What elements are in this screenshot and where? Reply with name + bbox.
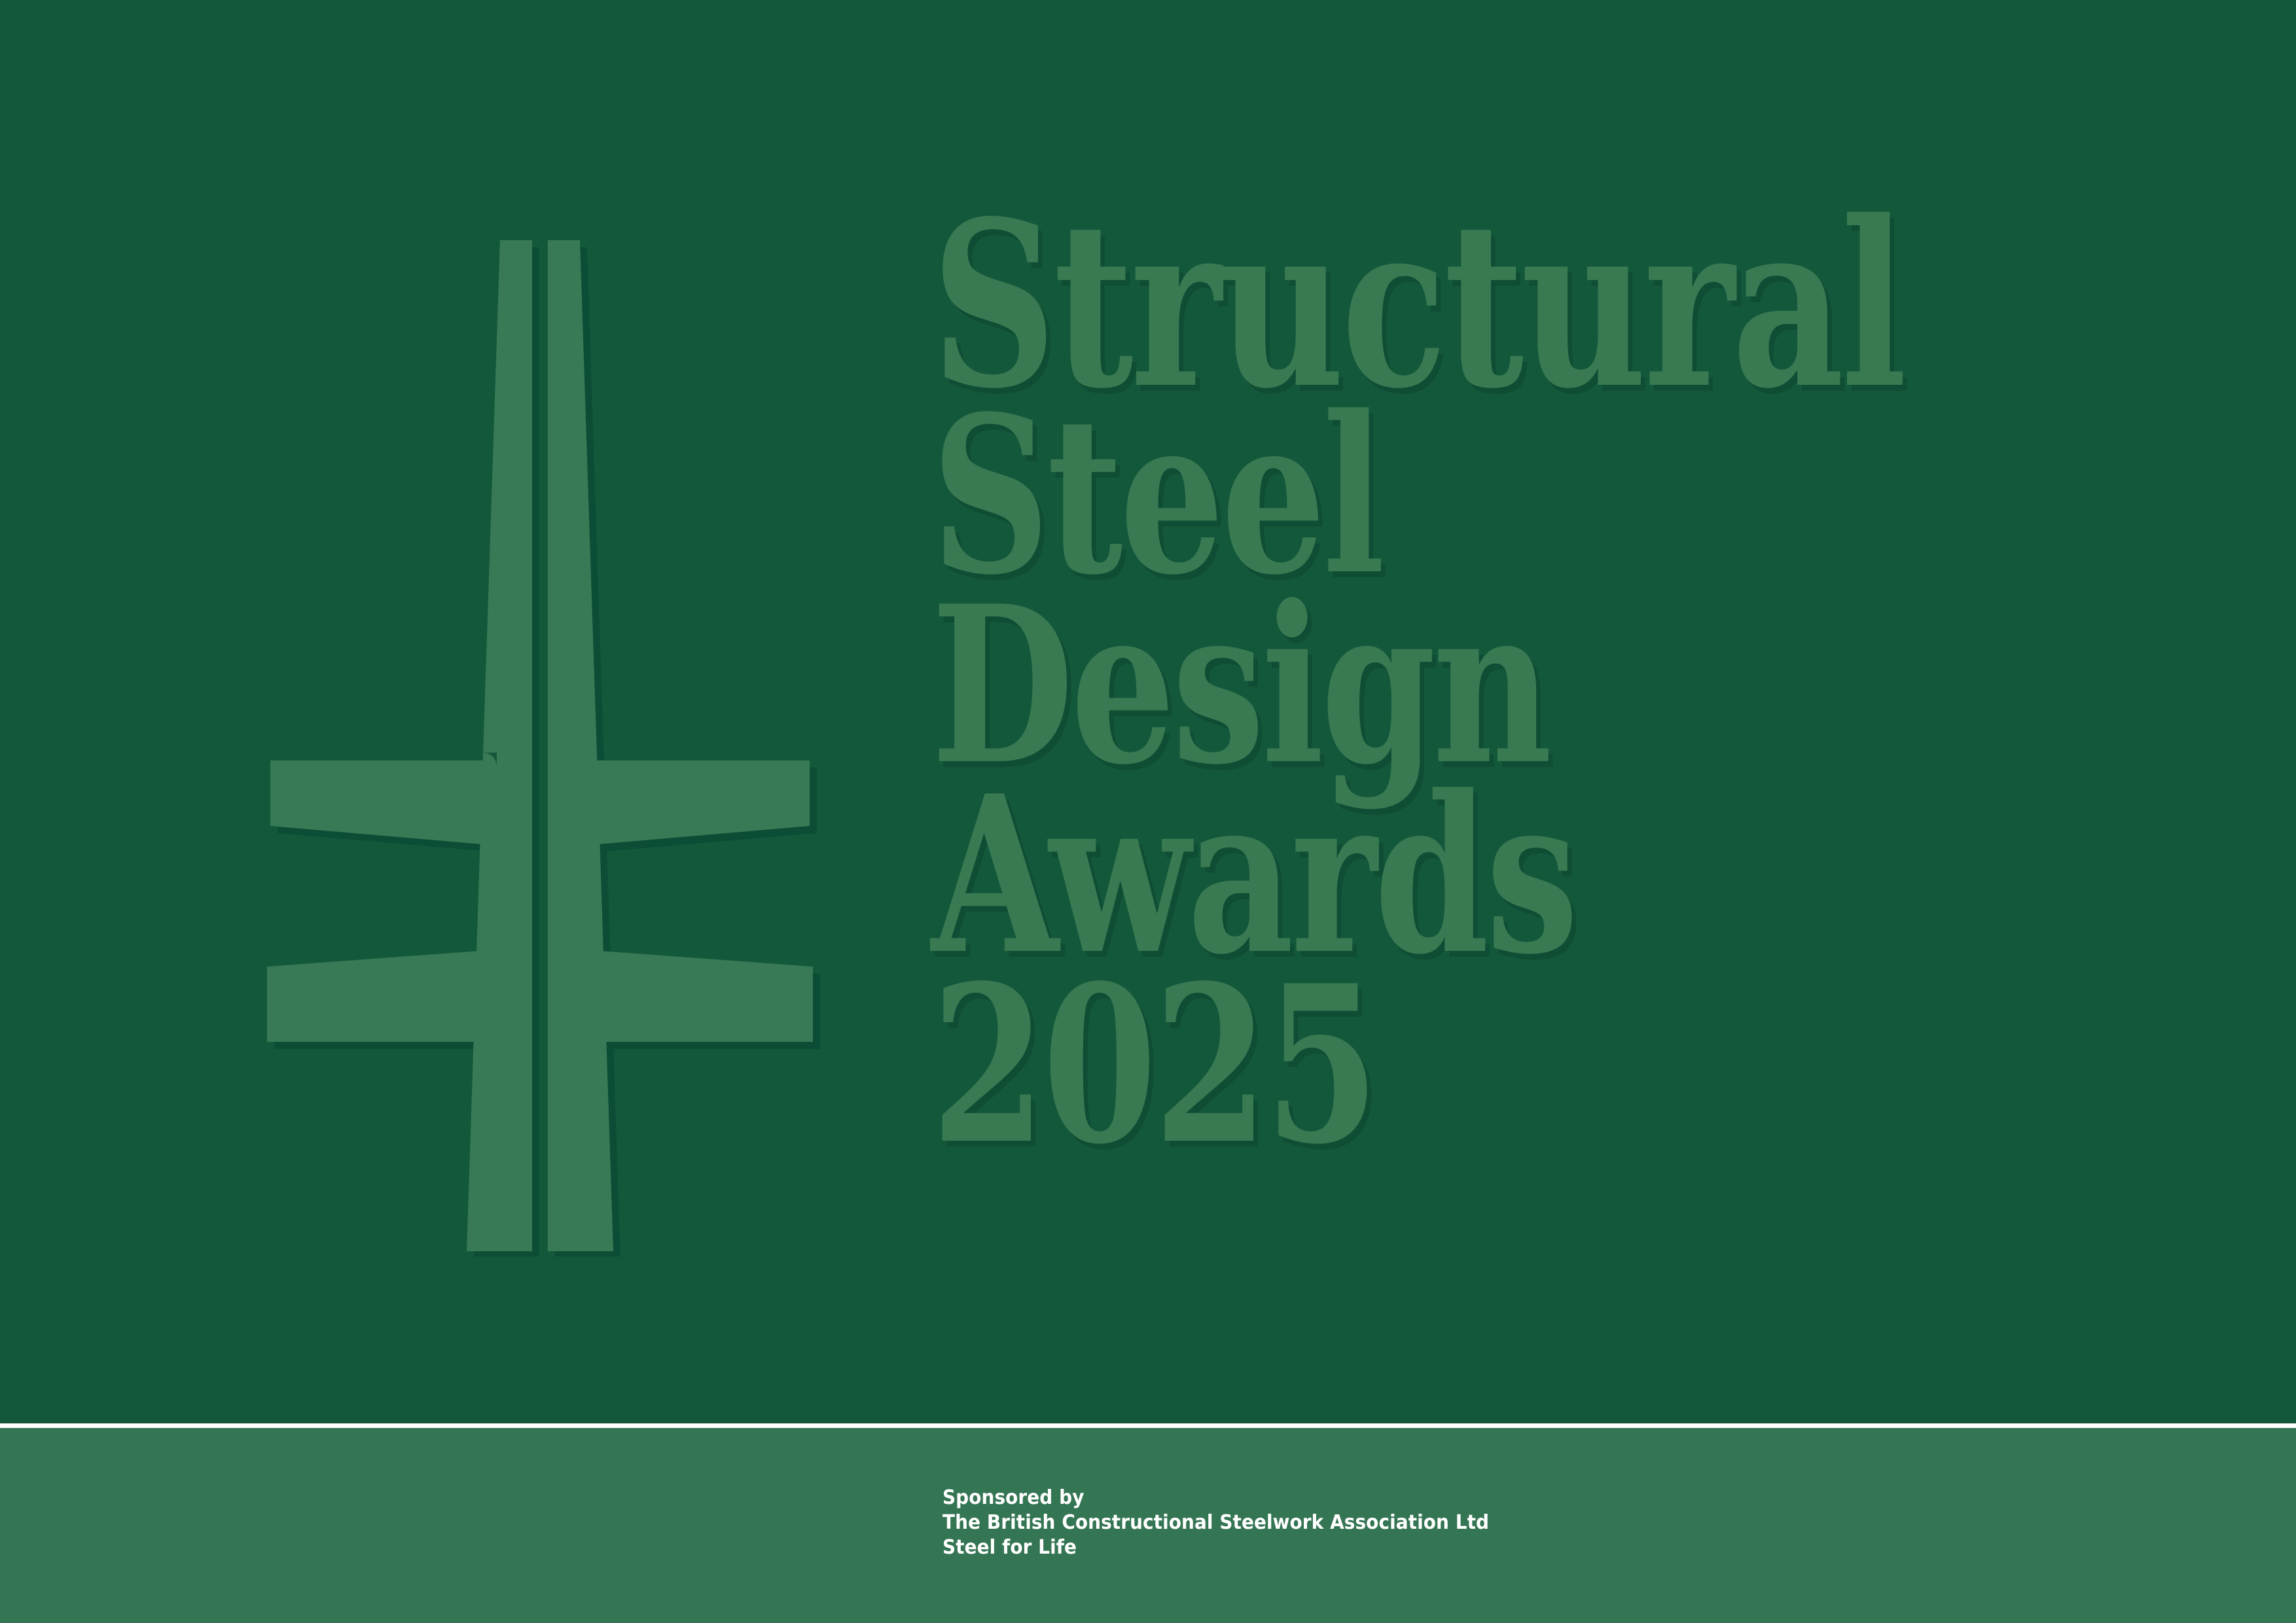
sponsor-credit-block: Sponsored by The British Constructional … — [942, 1486, 1990, 1560]
sponsor-name-steel-for-life: Steel for Life — [942, 1535, 1916, 1560]
cover-page: Structural Steel Design Awards 2025 Spon… — [0, 0, 2296, 1623]
sponsored-by-label: Sponsored by — [942, 1486, 1916, 1510]
sponsor-name-bcsa: The British Constructional Steelwork Ass… — [942, 1510, 1916, 1535]
title-line-year: 2025 — [931, 970, 1837, 1160]
page-title: Structural Steel Design Awards 2025 — [931, 211, 2123, 1160]
divider — [0, 1423, 2296, 1428]
steel-i-beam-logo-icon — [259, 236, 821, 1257]
hero-section: Structural Steel Design Awards 2025 — [0, 0, 2296, 1423]
